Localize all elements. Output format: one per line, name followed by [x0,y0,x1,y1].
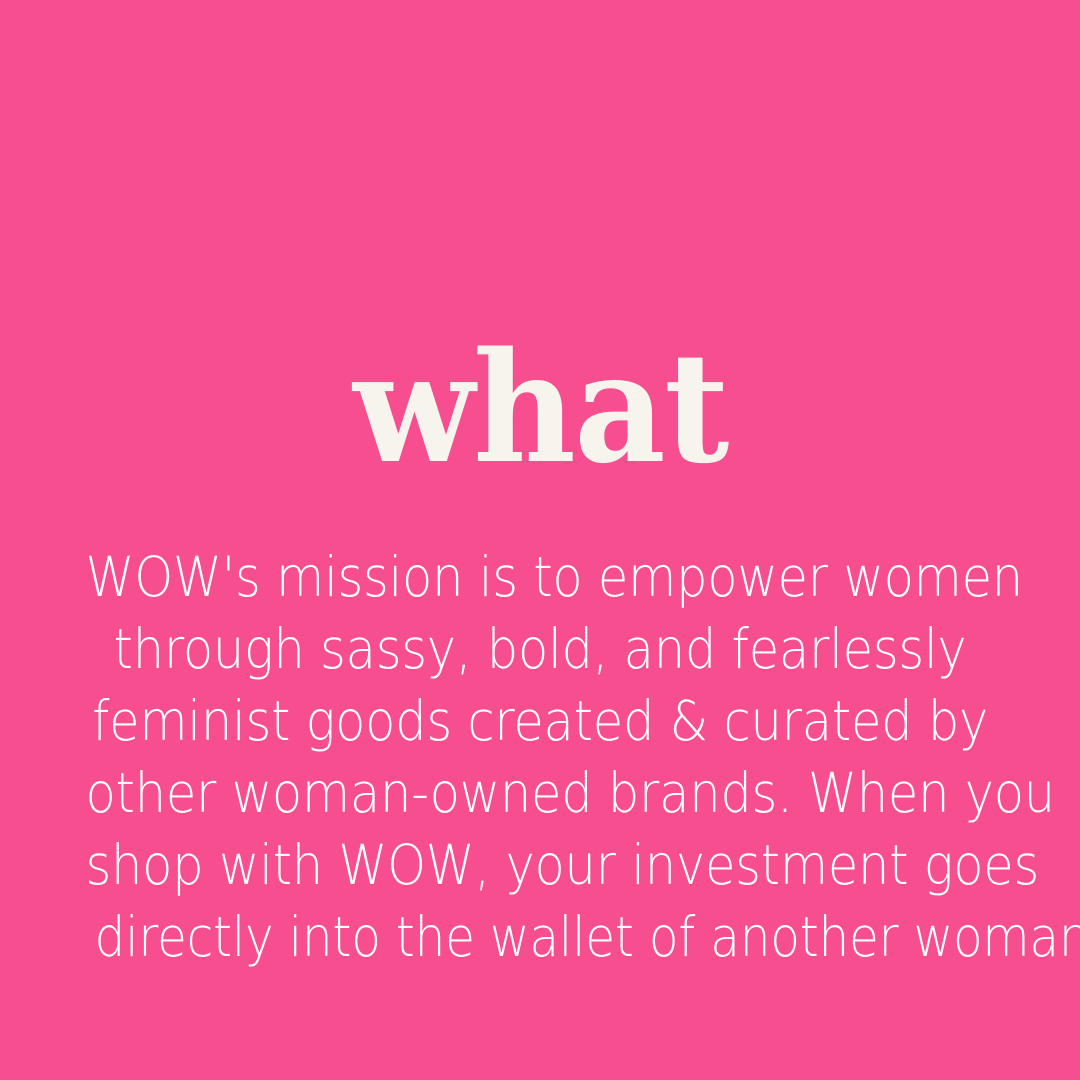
mission-statement-line: shop with WOW, your investment goes [86,829,995,901]
heading-section: what [0,0,1080,480]
social-post-card: what WOW's mission is to empower women t… [0,0,1080,1080]
mission-statement: WOW's mission is to empower women throug… [35,541,1045,973]
page-title: what [353,332,728,484]
mission-statement-line: other woman-owned brands. When you [86,757,995,829]
mission-statement-fulltext: WOW's mission is to empower women throug… [35,557,36,558]
mission-statement-line: feminist goods created & curated by [86,685,995,757]
mission-statement-line: directly into the wallet of another woma… [95,901,986,973]
mission-statement-line: through sassy, bold, and fearlessly [86,613,995,685]
mission-statement-line: WOW's mission is to empower women [86,541,995,613]
